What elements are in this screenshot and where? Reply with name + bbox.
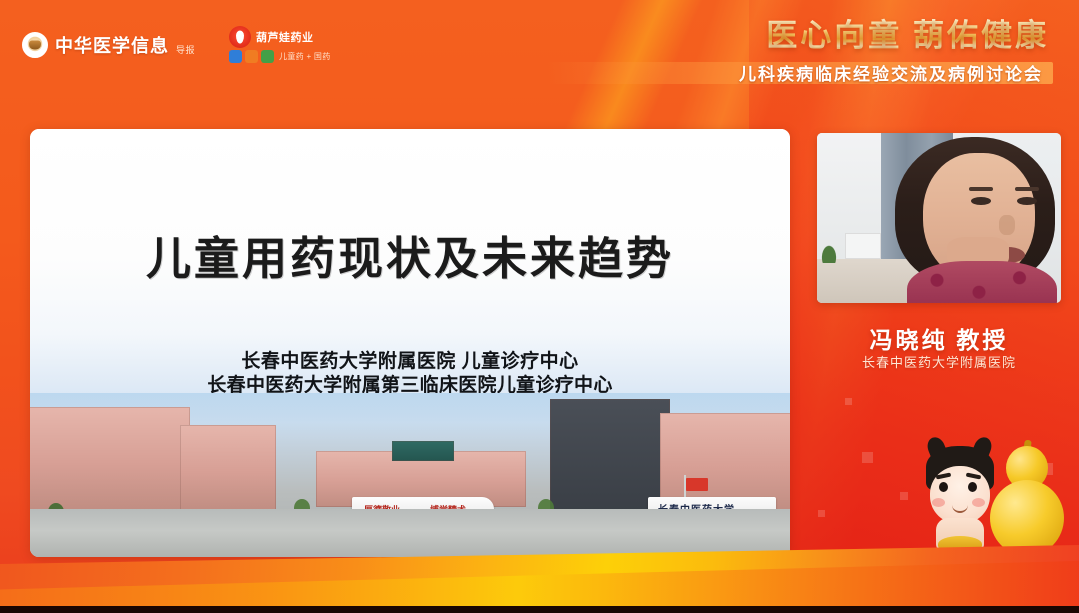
mascot-cheek-right (972, 498, 985, 507)
presenter-nose (999, 215, 1015, 235)
header-logo-row: 中华医学信息 导报 葫芦娃药业 儿童药 + 国药 (22, 26, 331, 63)
logo-huluwa-bottom: 儿童药 + 国药 (229, 50, 331, 63)
mascot-cheek-left (932, 498, 945, 507)
logo-huluwa-sublabel: 儿童药 + 国药 (279, 51, 331, 62)
chip-blue-icon (229, 50, 242, 63)
seal-emblem-icon (22, 32, 48, 58)
chip-orange-icon (245, 50, 258, 63)
presenter-brow-left (969, 187, 993, 191)
event-title-block: 医心向童 葫佑健康 儿科疾病临床经验交流及病例讨论会 (717, 18, 1049, 88)
gourd-badge-icon (229, 26, 251, 48)
logo-huluwa-pharma: 葫芦娃药业 儿童药 + 国药 (229, 26, 331, 63)
mascot-eye-left (939, 482, 948, 492)
presentation-slide[interactable]: 儿童用药现状及未来趋势 长春中医药大学附属医院 儿童诊疗中心 长春中医药大学附属… (30, 129, 790, 557)
campus-building-right-dark (550, 399, 670, 511)
logo-cmj-label: 中华医学信息 (55, 32, 169, 58)
logo-cmj-suffix: 导报 (176, 43, 195, 56)
campus-building-left-2 (180, 425, 276, 511)
presenter-figure (889, 137, 1061, 303)
decor-square (845, 398, 852, 405)
mascot-eye-right (968, 482, 977, 492)
campus-flag (686, 478, 708, 491)
campus-building-left (30, 407, 190, 511)
video-plant (819, 241, 839, 263)
broadcast-screen: 中华医学信息 导报 葫芦娃药业 儿童药 + 国药 医心向童 葫佑健康 儿科疾病临… (0, 0, 1079, 613)
campus-ground (30, 509, 790, 557)
presenter-clothing (907, 261, 1057, 303)
event-title: 医心向童 葫佑健康 (717, 18, 1049, 54)
slide-subtitle-line-1: 长春中医药大学附属医院 儿童诊疗中心 (30, 350, 790, 374)
logo-huluwa-top: 葫芦娃药业 (229, 26, 331, 48)
video-desk-box (845, 233, 881, 259)
decor-square (818, 510, 825, 517)
slide-campus-photo: 厚德敬业 博学精术 长春中医药大学 CHANGCHUN UNIVERSITY O… (30, 393, 790, 557)
bottom-edge-bar (0, 606, 1079, 613)
logo-chinese-medical-journal: 中华医学信息 导报 (22, 32, 195, 58)
campus-building-center-cap (392, 441, 454, 461)
speaker-name: 冯晓纯 教授 (817, 321, 1061, 355)
slide-title: 儿童用药现状及未来趋势 (30, 222, 790, 287)
speaker-organization: 长春中医药大学附属医院 (817, 352, 1061, 371)
decor-square (862, 452, 873, 463)
event-subtitle-band: 儿科疾病临床经验交流及病例讨论会 (717, 58, 1049, 88)
presenter-eye-right (1017, 197, 1037, 205)
chip-green-icon (261, 50, 274, 63)
presenter-brow-right (1015, 187, 1039, 191)
presenter-eye-left (971, 197, 991, 205)
decor-square (900, 492, 908, 500)
logo-huluwa-label: 葫芦娃药业 (256, 29, 314, 45)
event-subtitle: 儿科疾病临床经验交流及病例讨论会 (739, 60, 1043, 85)
presenter-video-tile[interactable] (817, 133, 1061, 303)
